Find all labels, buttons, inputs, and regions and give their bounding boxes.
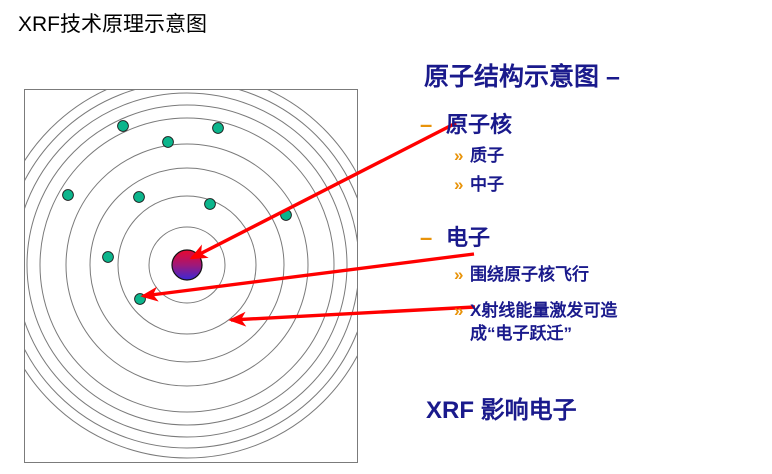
bullet-item-electron: – 电子	[420, 223, 490, 253]
nucleus-icon	[172, 250, 202, 280]
electron-dot-3	[163, 137, 174, 148]
bullet-label: 电子	[446, 223, 490, 253]
electron-dot-5	[134, 192, 145, 203]
chevron-bullet-icon: »	[454, 263, 470, 286]
bullet-label: 围绕原子核飞行	[470, 263, 589, 286]
atom-structure-svg	[25, 90, 357, 462]
slide-canvas: XRF技术原理示意图	[0, 0, 772, 474]
electron-dot-9	[135, 294, 146, 305]
electron-dot-4	[63, 190, 74, 201]
bullet-label-multiline: X射线能量激发可造 成“电子跃迁”	[470, 299, 617, 345]
footer-statement: XRF 影响电子	[426, 395, 577, 427]
electron-dot-7	[281, 210, 292, 221]
bullet-label: 中子	[470, 173, 504, 196]
bullet-label-line2: 成“电子跃迁”	[470, 324, 572, 343]
electron-dot-8	[103, 252, 114, 263]
panel-heading: 原子结构示意图 –	[424, 60, 620, 94]
dash-bullet-icon: –	[420, 110, 446, 140]
bullet-label: 质子	[470, 144, 504, 167]
atom-description-panel: 原子结构示意图 – – 原子核 » 质子 » 中子 – 电子 » 围绕原子核飞行…	[412, 60, 772, 460]
bullet-label-line1: X射线能量激发可造	[470, 301, 617, 320]
bullet-item-neutron: » 中子	[454, 173, 504, 196]
bullet-item-proton: » 质子	[454, 144, 504, 167]
chevron-bullet-icon: »	[454, 299, 470, 322]
page-title: XRF技术原理示意图	[18, 11, 207, 39]
electron-dot-1	[118, 121, 129, 132]
bullet-item-nucleus: – 原子核	[420, 110, 512, 140]
atom-diagram-panel	[24, 89, 358, 463]
bullet-label: 原子核	[446, 110, 512, 140]
chevron-bullet-icon: »	[454, 173, 470, 196]
dash-bullet-icon: –	[420, 223, 446, 253]
chevron-bullet-icon: »	[454, 144, 470, 167]
electron-dot-2	[213, 123, 224, 134]
bullet-item-orbiting: » 围绕原子核飞行	[454, 263, 589, 286]
bullet-item-xray-excitation: » X射线能量激发可造 成“电子跃迁”	[454, 299, 666, 345]
electron-dot-6	[205, 199, 216, 210]
